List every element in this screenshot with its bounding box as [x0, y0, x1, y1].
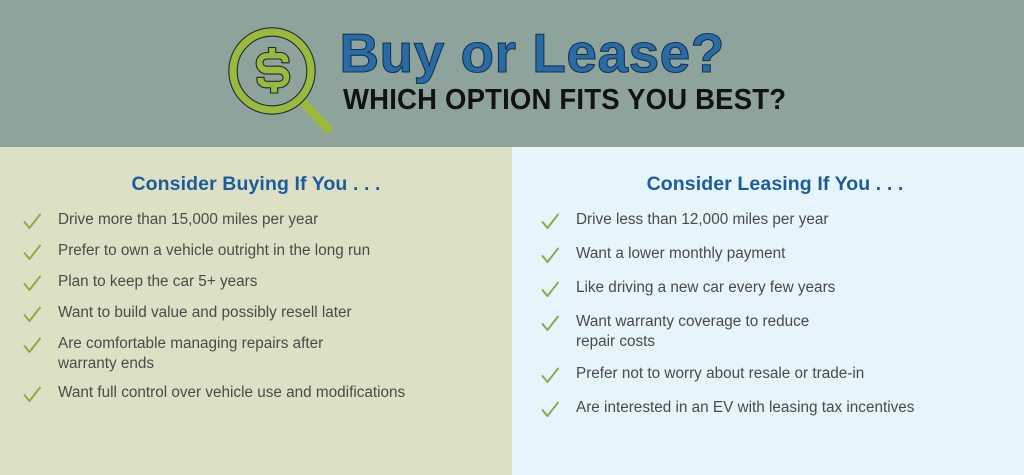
check-icon — [22, 385, 42, 405]
header-content: Buy or Lease? WHICH OPTION FITS YOU BEST… — [221, 12, 802, 136]
check-icon — [540, 246, 560, 266]
column-lease-list: Drive less than 12,000 miles per year Wa… — [540, 210, 1010, 420]
list-item-label: Prefer to own a vehicle outright in the … — [58, 241, 370, 261]
list-item: Are interested in an EV with leasing tax… — [540, 398, 1010, 420]
check-icon — [540, 314, 560, 334]
magnifying-glass-dollar-icon — [227, 24, 335, 136]
title-block: Buy or Lease? WHICH OPTION FITS YOU BEST… — [339, 26, 802, 115]
list-item-label: Want a lower monthly payment — [576, 244, 785, 264]
check-icon — [540, 366, 560, 386]
list-item: Are comfortable managing repairs after w… — [22, 334, 490, 374]
list-item-label: Drive less than 12,000 miles per year — [576, 210, 829, 230]
check-icon — [22, 274, 42, 294]
check-icon — [540, 400, 560, 420]
check-icon — [22, 336, 42, 356]
list-item-label: Are comfortable managing repairs after w… — [58, 334, 323, 374]
column-buy-heading: Consider Buying If You . . . — [22, 173, 490, 196]
list-item-label: Drive more than 15,000 miles per year — [58, 210, 318, 230]
list-item-label: Like driving a new car every few years — [576, 278, 835, 298]
list-item: Drive less than 12,000 miles per year — [540, 210, 1010, 232]
check-icon — [22, 305, 42, 325]
list-item-label: Are interested in an EV with leasing tax… — [576, 398, 914, 418]
column-lease: Consider Leasing If You . . . Drive less… — [512, 147, 1024, 475]
comparison-columns: Consider Buying If You . . . Drive more … — [0, 147, 1024, 475]
list-item: Want warranty coverage to reduce repair … — [540, 312, 1010, 352]
list-item: Prefer not to worry about resale or trad… — [540, 364, 1010, 386]
list-item: Want a lower monthly payment — [540, 244, 1010, 266]
list-item-label: Want warranty coverage to reduce repair … — [576, 312, 809, 352]
list-item-label: Prefer not to worry about resale or trad… — [576, 364, 864, 384]
check-icon — [22, 243, 42, 263]
list-item-label: Plan to keep the car 5+ years — [58, 272, 257, 292]
list-item-label: Want full control over vehicle use and m… — [58, 383, 405, 403]
list-item-label: Want to build value and possibly resell … — [58, 303, 352, 323]
buy-or-lease-infographic: Buy or Lease? WHICH OPTION FITS YOU BEST… — [0, 0, 1024, 475]
check-icon — [540, 280, 560, 300]
list-item: Like driving a new car every few years — [540, 278, 1010, 300]
column-lease-heading: Consider Leasing If You . . . — [540, 173, 1010, 196]
column-buy-list: Drive more than 15,000 miles per year Pr… — [22, 210, 490, 405]
list-item: Want to build value and possibly resell … — [22, 303, 490, 325]
header-band: Buy or Lease? WHICH OPTION FITS YOU BEST… — [0, 0, 1024, 147]
list-item: Plan to keep the car 5+ years — [22, 272, 490, 294]
list-item: Want full control over vehicle use and m… — [22, 383, 490, 405]
list-item: Drive more than 15,000 miles per year — [22, 210, 490, 232]
check-icon — [540, 212, 560, 232]
column-buy: Consider Buying If You . . . Drive more … — [0, 147, 512, 475]
list-item: Prefer to own a vehicle outright in the … — [22, 241, 490, 263]
page-title: Buy or Lease? — [339, 26, 725, 81]
page-subtitle: WHICH OPTION FITS YOU BEST? — [343, 86, 786, 115]
check-icon — [22, 212, 42, 232]
